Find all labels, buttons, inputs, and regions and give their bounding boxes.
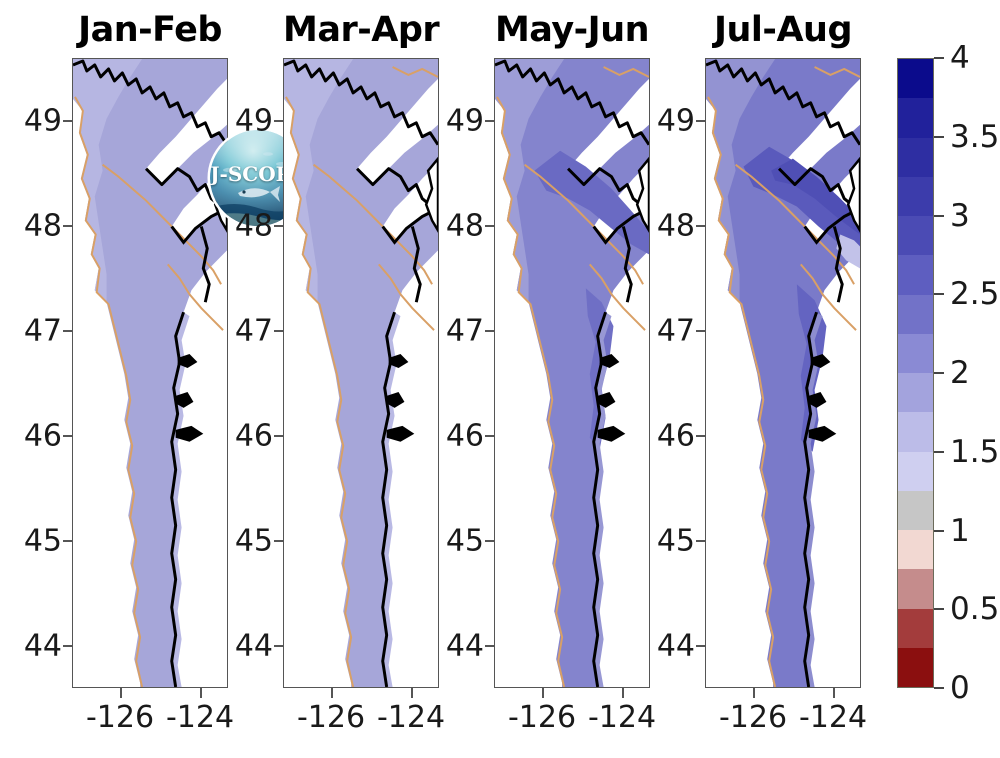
panel-title-4: Jul-Aug [705, 8, 861, 52]
panel-frame-1 [72, 58, 228, 688]
y-tick-label-p2-1: 48 [436, 209, 484, 244]
y-tick-label-p0-3: 46 [14, 419, 62, 454]
colorbar-tickmark-5 [934, 451, 944, 453]
y-tick-label-p1-0: 49 [225, 104, 273, 139]
map-panel-3[interactable] [494, 58, 650, 688]
colorbar-tickmark-8 [934, 687, 944, 689]
y-tick-label-p3-1: 48 [647, 209, 695, 244]
y-tick-label-p3-4: 45 [647, 524, 695, 559]
panel-title-2: Mar-Apr [283, 8, 439, 52]
y-tick-label-p0-2: 47 [14, 314, 62, 349]
colorbar-label-4: 2 [950, 355, 970, 391]
x-tick-mark-p0-0 [120, 688, 122, 698]
colorbar-band-12 [898, 530, 933, 569]
y-tick-label-p3-2: 47 [647, 314, 695, 349]
y-tick-mark-p0-2 [63, 330, 72, 332]
panel-frame-2 [283, 58, 439, 688]
y-tick-mark-p2-5 [485, 645, 494, 647]
colorbar-tickmark-0 [934, 57, 944, 59]
y-tick-mark-p1-3 [274, 435, 283, 437]
x-tick-mark-p1-0 [331, 688, 333, 698]
y-tick-label-p2-4: 45 [436, 524, 484, 559]
y-tick-mark-p1-0 [274, 120, 283, 122]
panel-title-3: May-Jun [494, 8, 650, 52]
panel-frame-3 [494, 58, 650, 688]
colorbar-label-2: 3 [950, 198, 970, 234]
x-tick-label-p0-1: -124 [150, 700, 250, 735]
colorbar-label-8: 0 [950, 670, 970, 706]
colorbar-band-2 [898, 138, 933, 177]
y-tick-label-p1-4: 45 [225, 524, 273, 559]
colorbar-label-1: 3.5 [950, 119, 999, 155]
x-tick-mark-p0-1 [200, 688, 202, 698]
colorbar-band-9 [898, 412, 933, 451]
colorbar-band-4 [898, 216, 933, 255]
y-tick-label-p2-2: 47 [436, 314, 484, 349]
map-panel-4[interactable] [705, 58, 861, 688]
colorbar-band-3 [898, 177, 933, 216]
map-panel-2[interactable] [283, 58, 439, 688]
colorbar-band-0 [898, 59, 933, 98]
x-tick-label-p2-1: -124 [572, 700, 672, 735]
map-plot-1 [73, 59, 227, 687]
map-plot-4 [706, 59, 860, 687]
colorbar-tickmark-7 [934, 608, 944, 610]
colorbar-tickmark-2 [934, 215, 944, 217]
y-tick-mark-p1-1 [274, 225, 283, 227]
colorbar-tickmark-1 [934, 136, 944, 138]
colorbar-tickmark-3 [934, 293, 944, 295]
x-tick-mark-p3-1 [833, 688, 835, 698]
colorbar-label-7: 0.5 [950, 591, 999, 627]
y-tick-mark-p3-2 [696, 330, 705, 332]
y-tick-mark-p1-4 [274, 540, 283, 542]
y-tick-label-p1-3: 46 [225, 419, 273, 454]
x-tick-label-p3-1: -124 [783, 700, 883, 735]
y-tick-mark-p3-1 [696, 225, 705, 227]
colorbar-band-7 [898, 334, 933, 373]
y-tick-label-p3-3: 46 [647, 419, 695, 454]
y-tick-mark-p0-4 [63, 540, 72, 542]
colorbar-tickmark-6 [934, 530, 944, 532]
y-tick-mark-p0-1 [63, 225, 72, 227]
y-tick-mark-p0-0 [63, 120, 72, 122]
figure-canvas: Jan-Feb [0, 0, 1000, 758]
y-tick-label-p3-0: 49 [647, 104, 695, 139]
y-tick-mark-p3-0 [696, 120, 705, 122]
colorbar-label-5: 1.5 [950, 434, 999, 470]
y-tick-label-p0-0: 49 [14, 104, 62, 139]
y-tick-label-p2-0: 49 [436, 104, 484, 139]
y-tick-label-p1-2: 47 [225, 314, 273, 349]
map-panel-1[interactable]: J-SCOPE [72, 58, 228, 688]
y-tick-label-p2-3: 46 [436, 419, 484, 454]
colorbar-band-1 [898, 98, 933, 137]
colorbar-band-14 [898, 609, 933, 648]
y-tick-mark-p3-3 [696, 435, 705, 437]
panel-title-1: Jan-Feb [72, 8, 228, 52]
y-tick-mark-p2-2 [485, 330, 494, 332]
colorbar-tickmark-4 [934, 372, 944, 374]
map-plot-2 [284, 59, 438, 687]
x-tick-mark-p1-1 [411, 688, 413, 698]
map-plot-3 [495, 59, 649, 687]
y-tick-mark-p2-0 [485, 120, 494, 122]
x-tick-mark-p3-0 [753, 688, 755, 698]
colorbar-band-15 [898, 648, 933, 687]
y-tick-mark-p0-3 [63, 435, 72, 437]
colorbar-label-6: 1 [950, 513, 970, 549]
y-tick-mark-p3-4 [696, 540, 705, 542]
colorbar[interactable] [897, 58, 934, 688]
y-tick-label-p1-1: 48 [225, 209, 273, 244]
y-tick-mark-p2-4 [485, 540, 494, 542]
colorbar-band-10 [898, 452, 933, 491]
y-tick-label-p0-4: 45 [14, 524, 62, 559]
y-tick-label-p0-5: 44 [14, 629, 62, 664]
colorbar-label-3: 2.5 [950, 276, 999, 312]
y-tick-label-p3-5: 44 [647, 629, 695, 664]
colorbar-band-5 [898, 255, 933, 294]
x-tick-label-p1-1: -124 [361, 700, 461, 735]
colorbar-band-8 [898, 373, 933, 412]
y-tick-mark-p2-3 [485, 435, 494, 437]
y-tick-label-p1-5: 44 [225, 629, 273, 664]
y-tick-label-p2-5: 44 [436, 629, 484, 664]
y-tick-mark-p2-1 [485, 225, 494, 227]
y-tick-mark-p1-2 [274, 330, 283, 332]
y-tick-label-p0-1: 48 [14, 209, 62, 244]
colorbar-band-11 [898, 491, 933, 530]
y-tick-mark-p1-5 [274, 645, 283, 647]
y-tick-mark-p0-5 [63, 645, 72, 647]
colorbar-label-0: 4 [950, 40, 970, 76]
panel-frame-4 [705, 58, 861, 688]
x-tick-mark-p2-0 [542, 688, 544, 698]
x-tick-mark-p2-1 [622, 688, 624, 698]
colorbar-band-13 [898, 569, 933, 608]
colorbar-band-6 [898, 295, 933, 334]
y-tick-mark-p3-5 [696, 645, 705, 647]
